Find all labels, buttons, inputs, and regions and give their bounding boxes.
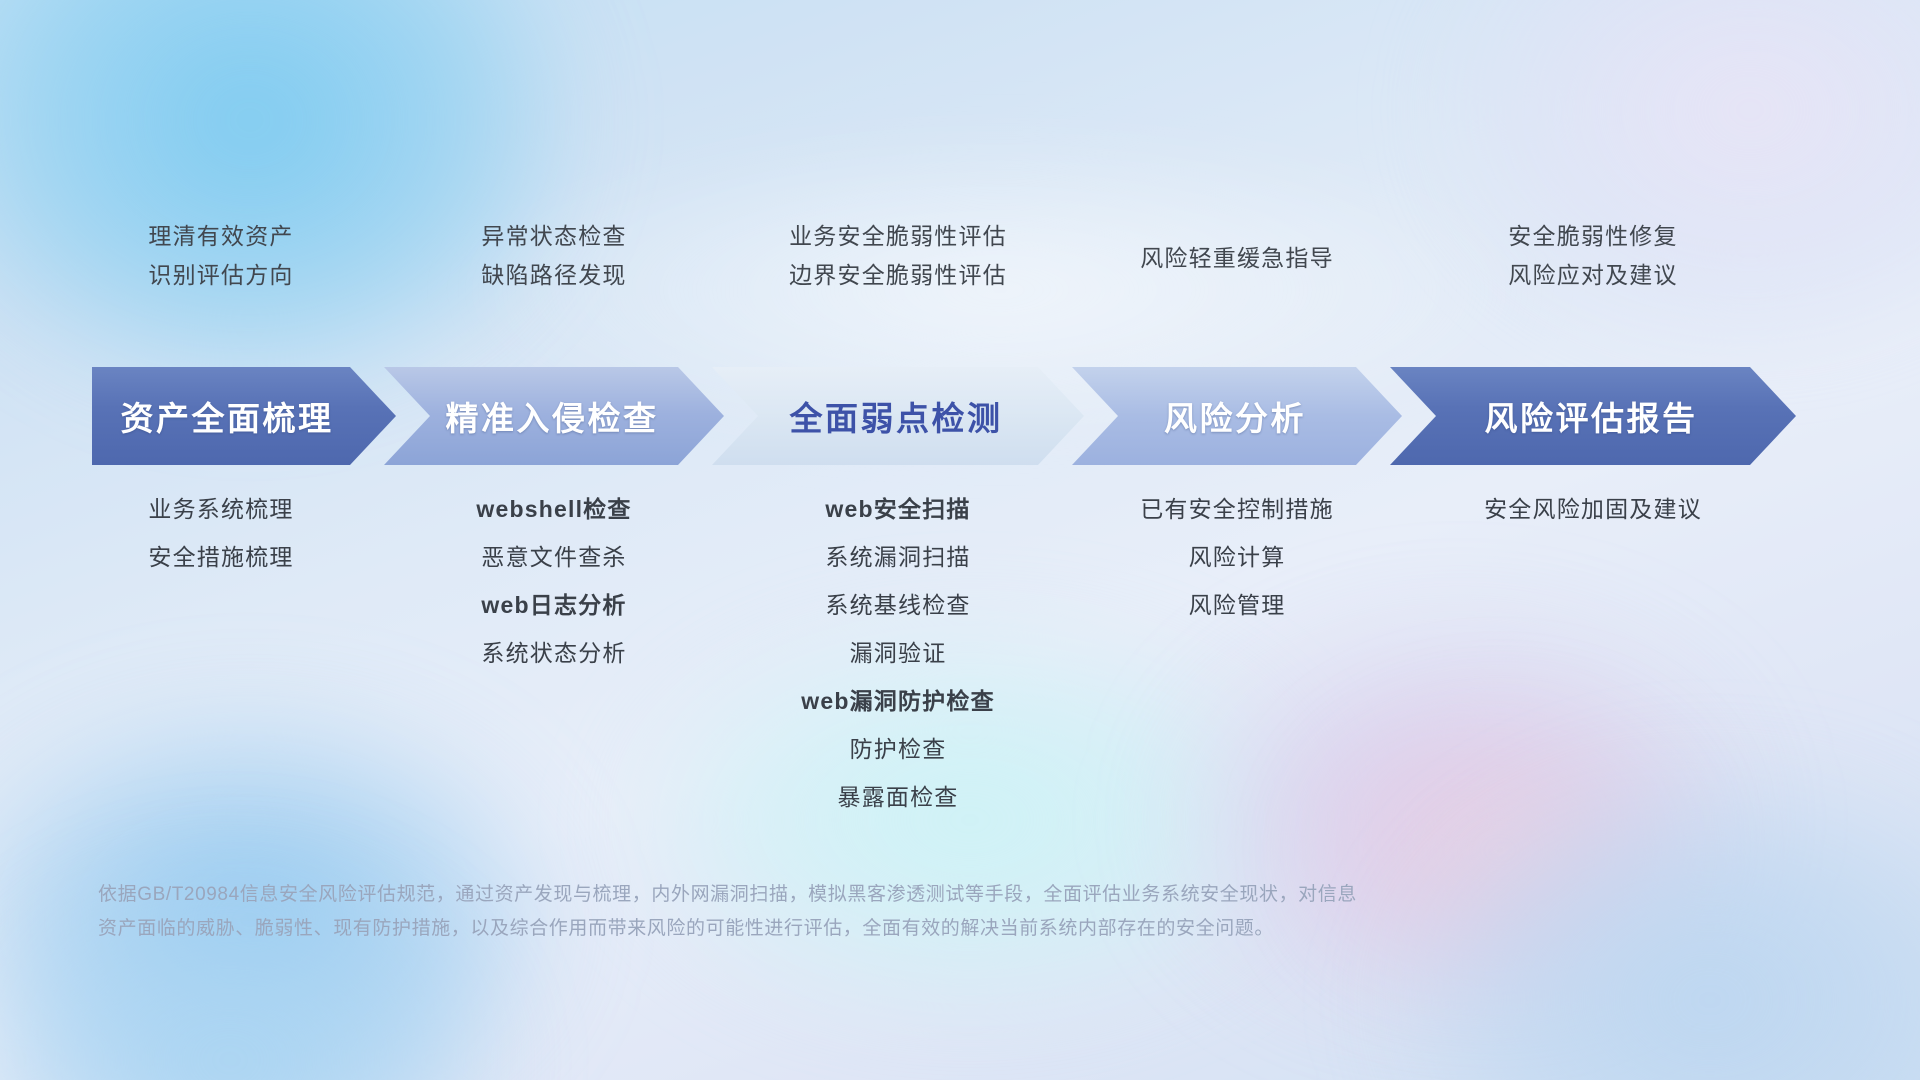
stage-details-intrusion-check: webshell检查恶意文件查杀web日志分析系统状态分析 [354, 498, 754, 665]
footer-description: 依据GB/T20984信息安全风险评估规范，通过资产发现与梳理，内外网漏洞扫描，… [98, 878, 1618, 946]
stage-detail-item: 系统基线检查 [825, 594, 970, 617]
stage-top-note: 风险轻重缓急指导 [1140, 247, 1334, 270]
stage-top-note: 理清有效资产 [148, 225, 293, 248]
stage-arrow-assessment-report[interactable]: 风险评估报告 [1390, 367, 1796, 465]
stage-details-risk-analysis: 已有安全控制措施风险计算风险管理 [1037, 498, 1437, 617]
stage-arrow-asset-inventory[interactable]: 资产全面梳理 [92, 367, 396, 465]
stage-detail-item: 系统漏洞扫描 [825, 546, 970, 569]
stage-title-risk-analysis: 风险分析 [1164, 392, 1306, 440]
stage-detail-item: web安全扫描 [825, 498, 970, 521]
stage-detail-item: web日志分析 [481, 594, 626, 617]
footer-line-1: 依据GB/T20984信息安全风险评估规范，通过资产发现与梳理，内外网漏洞扫描，… [98, 878, 1618, 912]
stage-detail-item: 业务系统梳理 [148, 498, 293, 521]
stage-arrow-risk-analysis[interactable]: 风险分析 [1072, 367, 1402, 465]
stage-detail-item: 已有安全控制措施 [1140, 498, 1334, 521]
stage-arrow-weakness-detection[interactable]: 全面弱点检测 [712, 367, 1084, 465]
stage-top-note: 业务安全脆弱性评估 [789, 225, 1007, 248]
footer-line-2: 资产面临的威胁、脆弱性、现有防护措施，以及综合作用而带来风险的可能性进行评估，全… [98, 912, 1618, 946]
stage-detail-item: 暴露面检查 [838, 786, 959, 809]
stage-top-note: 边界安全脆弱性评估 [789, 264, 1007, 287]
stage-top-notes-intrusion-check: 异常状态检查缺陷路径发现 [354, 225, 754, 287]
stage-detail-item: 风险计算 [1189, 546, 1286, 569]
stage-top-note: 缺陷路径发现 [481, 264, 626, 287]
stage-top-note: 异常状态检查 [481, 225, 626, 248]
stage-detail-item: web漏洞防护检查 [801, 690, 995, 713]
stage-detail-item: webshell检查 [476, 498, 631, 521]
stage-top-notes-assessment-report: 安全脆弱性修复风险应对及建议 [1393, 225, 1793, 287]
stage-detail-item: 恶意文件查杀 [481, 546, 626, 569]
stage-top-notes-row: 理清有效资产识别评估方向异常状态检查缺陷路径发现业务安全脆弱性评估边界安全脆弱性… [0, 225, 1920, 325]
stage-detail-item: 系统状态分析 [481, 642, 626, 665]
stage-details-assessment-report: 安全风险加固及建议 [1393, 498, 1793, 521]
stage-title-intrusion-check: 精准入侵检查 [446, 392, 659, 440]
stage-detail-item: 安全风险加固及建议 [1484, 498, 1702, 521]
stage-top-note: 风险应对及建议 [1508, 264, 1677, 287]
stage-top-note: 识别评估方向 [148, 264, 293, 287]
stage-detail-item: 防护检查 [850, 738, 947, 761]
stage-arrow-intrusion-check[interactable]: 精准入侵检查 [384, 367, 724, 465]
stage-arrow-band: 资产全面梳理精准入侵检查全面弱点检测风险分析风险评估报告 [92, 367, 1832, 465]
stage-detail-item: 漏洞验证 [850, 642, 947, 665]
stage-title-weakness-detection: 全面弱点检测 [790, 392, 1003, 440]
stage-top-notes-risk-analysis: 风险轻重缓急指导 [1037, 247, 1437, 270]
stage-detail-item: 安全措施梳理 [148, 546, 293, 569]
process-diagram: 理清有效资产识别评估方向异常状态检查缺陷路径发现业务安全脆弱性评估边界安全脆弱性… [0, 0, 1920, 1080]
stage-top-note: 安全脆弱性修复 [1508, 225, 1677, 248]
stage-detail-columns: 业务系统梳理安全措施梳理webshell检查恶意文件查杀web日志分析系统状态分… [0, 498, 1920, 858]
stage-title-assessment-report: 风险评估报告 [1485, 392, 1698, 440]
stage-title-asset-inventory: 资产全面梳理 [121, 392, 334, 440]
stage-detail-item: 风险管理 [1189, 594, 1286, 617]
